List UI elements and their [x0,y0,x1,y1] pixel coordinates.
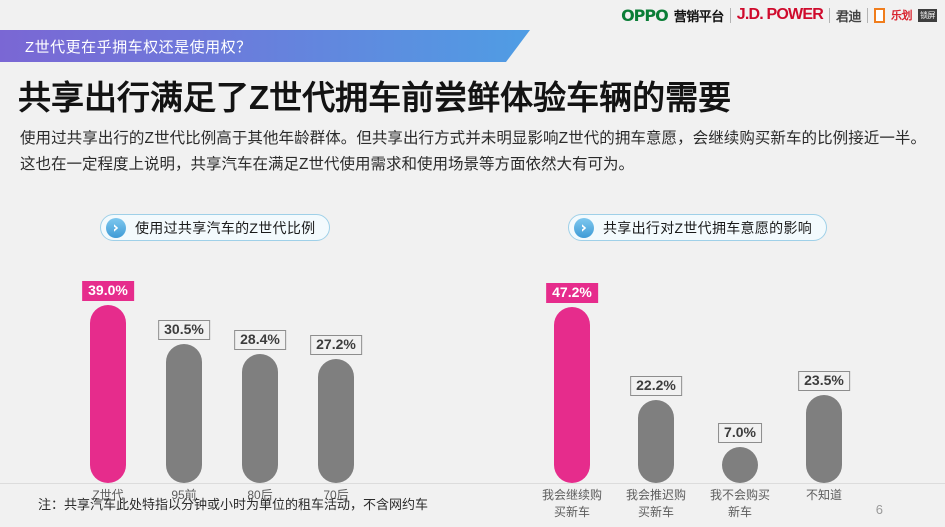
bar-group: 23.5%不知道 [790,278,858,483]
bar-column: 28.4% [230,278,290,483]
bar-group: 47.2%我会继续购买新车 [538,278,606,483]
page-number: 6 [876,502,883,517]
bar [166,344,202,483]
logo-divider [867,8,868,23]
bar-value-label: 23.5% [798,371,850,391]
bar-column: 27.2% [306,278,366,483]
lehua-mark-icon [874,8,885,23]
lehua-badge: 锁屏 [918,9,937,22]
bar-value-label: 27.2% [310,335,362,355]
bar-column: 39.0% [78,278,138,483]
chevron-right-circle-icon [106,218,126,238]
bar-group: 30.5%95前 [154,278,214,483]
bar-group: 39.0%Z世代 [78,278,138,483]
chart-right-title-pill: 共享出行对Z世代拥车意愿的影响 [568,214,827,241]
jd-power-logo: J.D. POWER [737,6,823,24]
bar-value-label: 39.0% [82,281,134,301]
bar [242,354,278,483]
chart-right-title-label: 共享出行对Z世代拥车意愿的影响 [603,218,812,238]
bar [806,395,842,483]
bar-group: 27.2%70后 [306,278,366,483]
bar-group: 28.4%80后 [230,278,290,483]
marketing-platform-label: 营销平台 [674,6,724,25]
chart-left-title-label: 使用过共享汽车的Z世代比例 [135,218,315,238]
chart-left: 39.0%Z世代30.5%95前28.4%80后27.2%70后 [78,258,368,483]
logo-divider [829,8,830,23]
chevron-right-circle-icon [574,218,594,238]
bar-column: 23.5% [790,278,858,483]
oppo-logo: OPPO [621,6,668,25]
bar-group: 22.2%我会推迟购买新车 [622,278,690,483]
section-banner-text: Z世代更在乎拥车权还是使用权？ [0,36,252,57]
footnote: 注：共享汽车此处特指以分钟或小时为单位的租车活动，不含网约车 [38,494,428,513]
logo-divider [730,8,731,23]
slide-root: OPPO 营销平台 J.D. POWER 君迪 乐划 锁屏 Z世代更在乎拥车权还… [0,0,945,527]
bar-value-label: 30.5% [158,320,210,340]
bar [722,447,758,483]
bar-category-label: 不知道 [806,487,842,504]
bar-group: 7.0%我不会购买新车 [706,278,774,483]
lehua-label: 乐划 [891,7,912,23]
bar [638,400,674,483]
bar-column: 47.2% [538,278,606,483]
page-title: 共享出行满足了Z世代拥车前尝鲜体验车辆的需要 [18,71,928,119]
bar-value-label: 28.4% [234,330,286,350]
chart-right: 47.2%我会继续购买新车22.2%我会推迟购买新车7.0%我不会购买新车23.… [538,258,858,483]
bar-value-label: 22.2% [630,376,682,396]
bar-category-label: 我会推迟购买新车 [626,487,686,521]
footer-divider [0,483,945,484]
body-paragraph: 使用过共享出行的Z世代比例高于其他年龄群体。但共享出行方式并未明显影响Z世代的拥… [20,126,926,178]
bar [90,305,126,483]
chart-left-title-pill: 使用过共享汽车的Z世代比例 [100,214,330,241]
bar [554,307,590,483]
bar-column: 30.5% [154,278,214,483]
bar-column: 22.2% [622,278,690,483]
bar-value-label: 7.0% [718,423,762,443]
bar-column: 7.0% [706,278,774,483]
bar-category-label: 我会继续购买新车 [542,487,602,521]
bar-category-label: 我不会购买新车 [710,487,770,521]
brand-logo-bar: OPPO 营销平台 J.D. POWER 君迪 乐划 锁屏 [621,4,937,26]
jundi-label: 君迪 [836,6,861,25]
bar-value-label: 47.2% [546,283,598,303]
section-banner: Z世代更在乎拥车权还是使用权？ [0,30,530,62]
bar [318,359,354,483]
